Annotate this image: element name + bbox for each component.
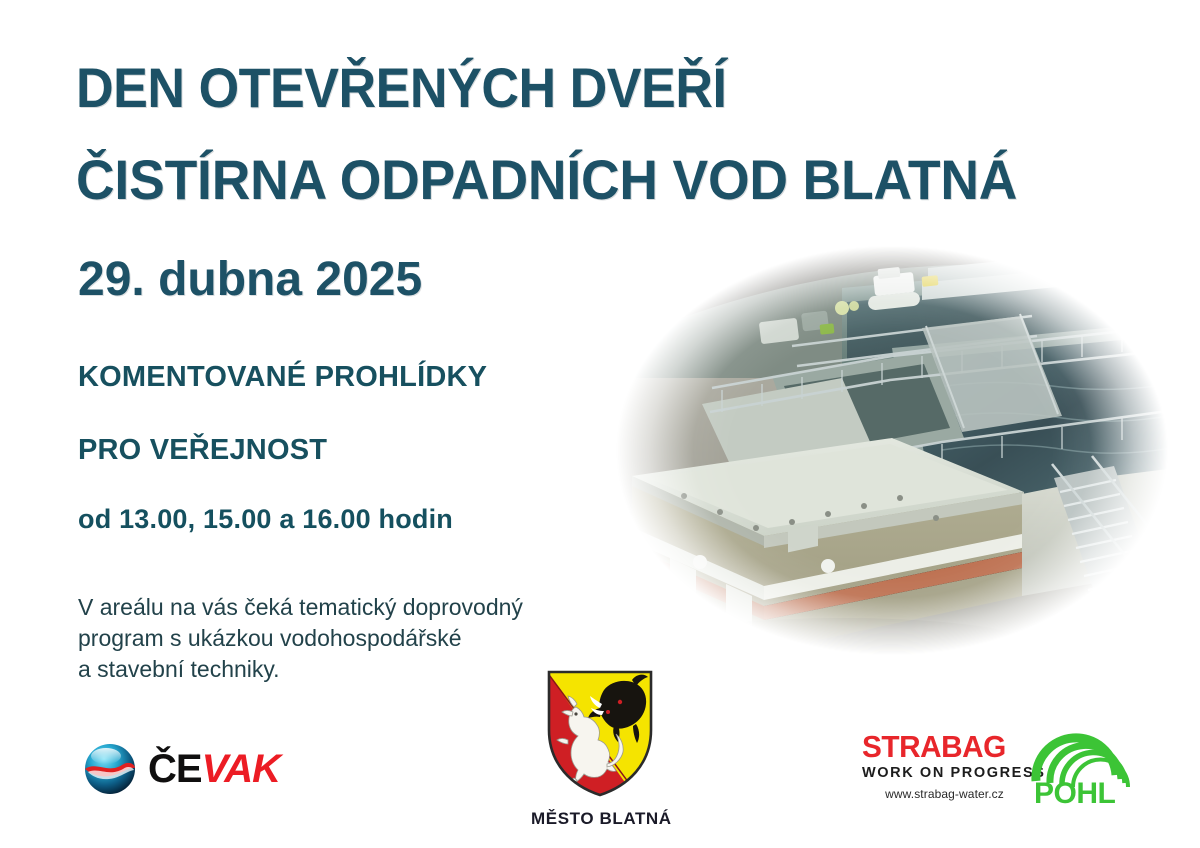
pohl-logo: POHL POHL <box>1028 729 1140 807</box>
cevak-wordmark: ČEVAK <box>148 749 280 789</box>
tour-times: od 13.00, 15.00 a 16.00 hodin <box>78 503 453 535</box>
for-public-subline: PRO VEŘEJNOST <box>78 433 327 467</box>
blatna-caption: MĚSTO BLATNÁ <box>531 809 669 829</box>
strabag-tagline: WORK ON PROGRESS <box>862 763 1027 783</box>
strabag-url: www.strabag-water.cz <box>862 787 1027 801</box>
cevak-wordmark-red: VAK <box>202 747 280 791</box>
poster-headline-line-1: DEN OTEVŘENÝCH DVEŘÍ <box>76 58 726 118</box>
guided-tours-subline: KOMENTOVANÉ PROHLÍDKY <box>78 360 487 394</box>
blatna-coat-of-arms: MĚSTO BLATNÁ <box>531 668 669 838</box>
strabag-wordmark: STRABAG <box>862 731 1020 763</box>
description-line-2: program s ukázkou vodohospodářské <box>78 623 618 654</box>
treatment-plant-photo <box>592 228 1192 673</box>
sphere-wave-icon <box>82 741 138 797</box>
description-line-1: V areálu na vás čeká tematický doprovodn… <box>78 592 618 623</box>
poster-headline-line-2: ČISTÍRNA ODPADNÍCH VOD BLATNÁ <box>76 150 1017 210</box>
cevak-logo: ČEVAK <box>82 738 282 800</box>
coat-of-arms-shield-icon <box>544 785 656 802</box>
poster-canvas: DEN OTEVŘENÝCH DVEŘÍ ČISTÍRNA ODPADNÍCH … <box>0 0 1200 848</box>
pohl-wordmark-text: POHL <box>1034 777 1116 807</box>
treatment-plant-photo-image <box>592 228 1192 673</box>
strabag-logo: STRABAG WORK ON PROGRESS www.strabag-wat… <box>862 731 1027 801</box>
cevak-wordmark-dark: ČE <box>148 747 202 791</box>
event-date: 29. dubna 2025 <box>78 253 422 307</box>
arcs-bridge-icon: POHL <box>1028 729 1140 807</box>
